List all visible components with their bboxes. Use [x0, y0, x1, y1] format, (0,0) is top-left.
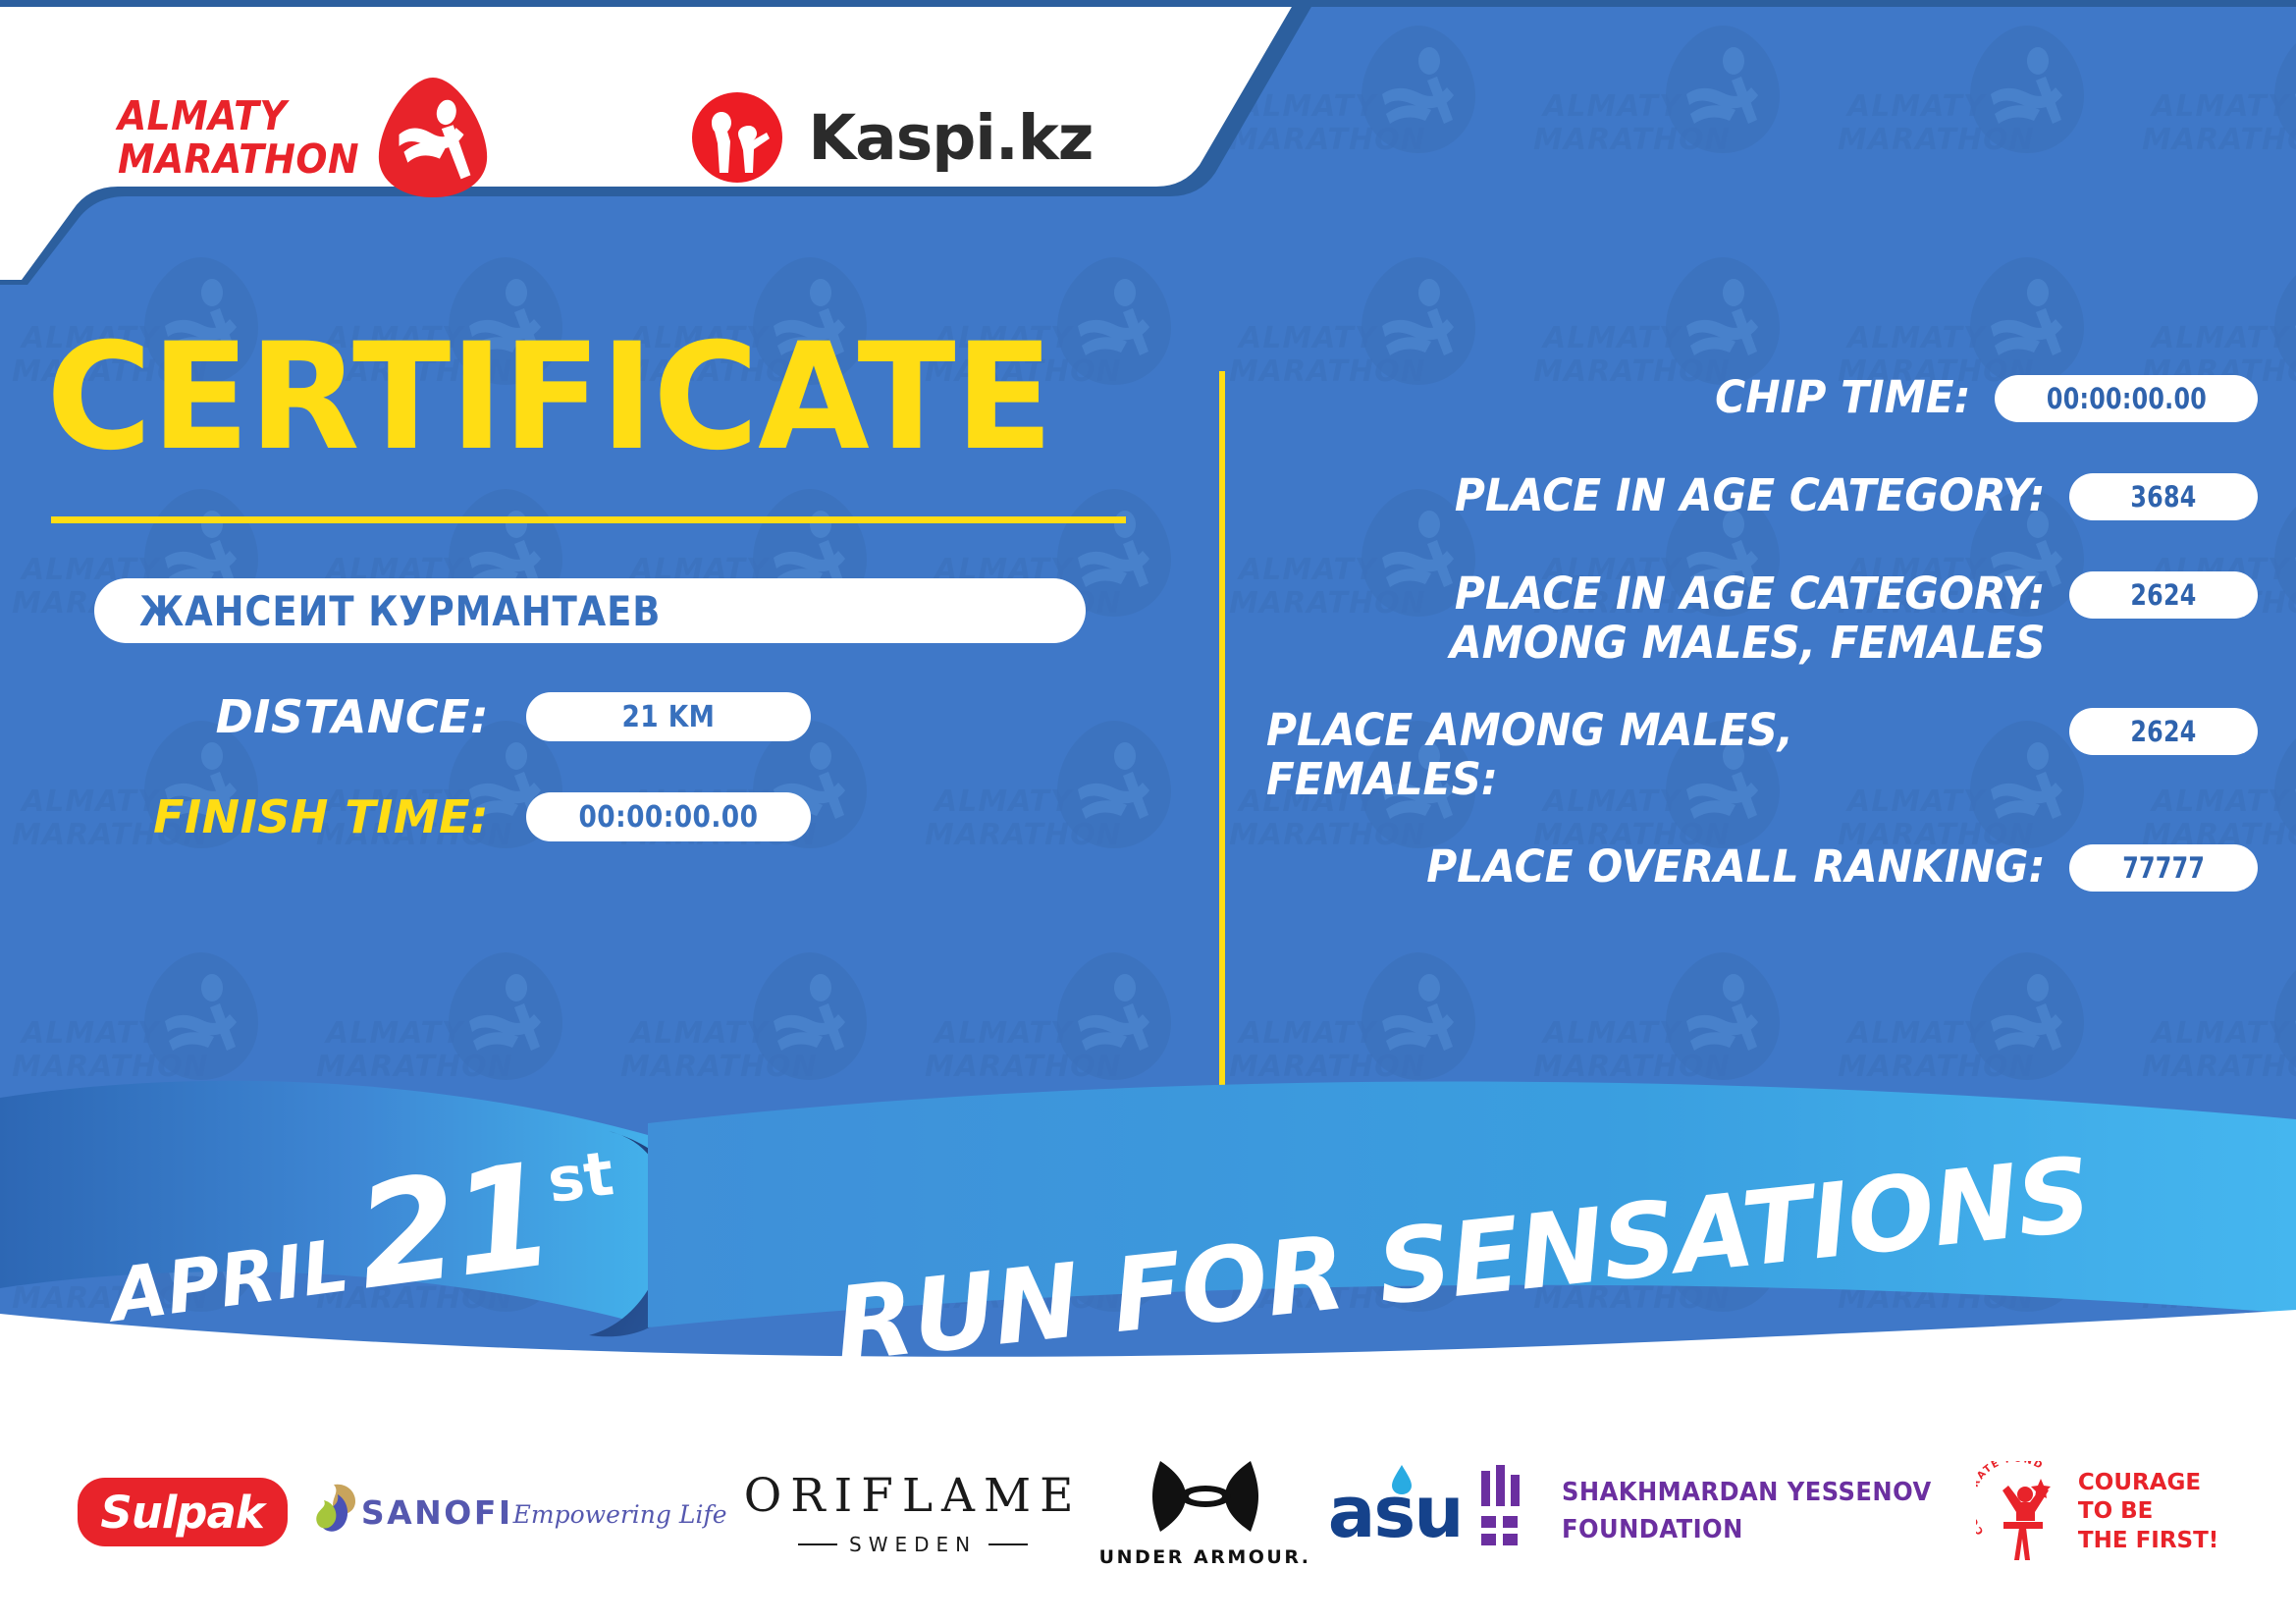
oriflame-tagline: SWEDEN	[849, 1533, 977, 1556]
kaspi-people-circle-icon	[688, 88, 786, 187]
place-age-gender-label: PLACE IN AGE CATEGORY:AMONG MALES, FEMAL…	[1314, 568, 2069, 669]
distance-value-pill: 21 KM	[526, 692, 811, 741]
column-divider	[1219, 371, 1225, 1098]
almaty-logo-line2: MARATHON	[118, 137, 359, 181]
kaspi-wordmark: Kaspi.kz	[808, 102, 1093, 174]
athlete-name-field: ЖАНСЕИТ КУРМАНТАЕВ	[94, 578, 1086, 643]
sponsor-bar: Sulpak SANOFI Empowering Life ORIFLAME S…	[0, 1400, 2296, 1624]
result-row-chip-time: CHIP TIME: 00:00:00.00	[1266, 371, 2258, 434]
sponsor-yessenov-foundation: SHAKHMARDAN YESSENOV FOUNDATION	[1479, 1465, 1959, 1559]
oriflame-rule-left	[798, 1543, 837, 1545]
finish-time-value-pill: 00:00:00.00	[526, 792, 811, 841]
place-age-gender-value-pill: 2624	[2069, 571, 2258, 619]
sulpak-wordmark: Sulpak	[100, 1487, 263, 1539]
distance-label: DISTANCE:	[94, 690, 526, 743]
courage-line1: COURAGE	[2078, 1469, 2218, 1497]
almaty-marathon-logo: ALMATY MARATHON	[118, 74, 492, 201]
result-row-place-age-gender: PLACE IN AGE CATEGORY:AMONG MALES, FEMAL…	[1266, 568, 2258, 669]
place-age-value: 3684	[2130, 480, 2196, 514]
overall-rank-value: 77777	[2122, 851, 2205, 885]
top-border-rule	[0, 0, 2296, 7]
courage-line3: THE FIRST!	[2078, 1527, 2218, 1555]
sponsor-asu: asu	[1328, 1471, 1463, 1553]
yessenov-mark-icon	[1479, 1465, 1540, 1559]
overall-rank-label: PLACE OVERALL RANKING:	[1314, 840, 2069, 892]
results-column: CHIP TIME: 00:00:00.00 PLACE IN AGE CATE…	[1266, 371, 2258, 939]
sanofi-tagline: Empowering Life	[513, 1500, 727, 1529]
distance-row: DISTANCE: 21 KM	[0, 690, 1158, 743]
finish-time-value: 00:00:00.00	[579, 800, 759, 835]
finish-time-label: FINISH TIME:	[94, 790, 526, 843]
place-age-value-pill: 3684	[2069, 473, 2258, 520]
event-day-ordinal: st	[544, 1137, 618, 1217]
almaty-logo-line1: ALMATY	[118, 94, 359, 137]
place-age-gender-value: 2624	[2130, 578, 2196, 612]
sponsor-oriflame: ORIFLAME SWEDEN	[744, 1469, 1083, 1556]
event-day: 21	[349, 1143, 559, 1310]
finish-time-row: FINISH TIME: 00:00:00.00	[0, 790, 1158, 843]
runner-drop-icon	[374, 74, 492, 201]
result-row-overall: PLACE OVERALL RANKING: 77777	[1266, 840, 2258, 903]
place-age-label: PLACE IN AGE CATEGORY:	[1314, 469, 2069, 520]
kaspi-logo: Kaspi.kz	[688, 88, 1093, 187]
certificate-canvas: ALMATY MARATHON ALMATY MARATHON	[0, 0, 2296, 1624]
chip-time-value: 00:00:00.00	[2046, 382, 2206, 415]
under-armour-wordmark: UNDER ARMOUR.	[1099, 1546, 1311, 1568]
sponsor-sulpak: Sulpak	[78, 1478, 288, 1546]
chip-time-label: CHIP TIME:	[1310, 371, 1995, 422]
sponsor-corporate-fund: CORPORATE FUND COURAGE TO BE THE FIRST!	[1976, 1461, 2218, 1563]
result-row-place-age: PLACE IN AGE CATEGORY: 3684	[1266, 469, 2258, 532]
courage-line2: TO BE	[2078, 1497, 2218, 1526]
courage-first-icon: CORPORATE FUND	[1976, 1461, 2066, 1563]
sponsor-sanofi: SANOFI Empowering Life	[304, 1483, 727, 1543]
place-gender-value: 2624	[2130, 715, 2196, 748]
sanofi-mark-icon	[304, 1483, 361, 1534]
yessenov-line2: FOUNDATION	[1562, 1512, 1932, 1549]
ribbon-banner: APRIL 21 st RUN FOR SENSATIONS	[0, 1080, 2296, 1404]
under-armour-icon	[1150, 1457, 1260, 1536]
overall-rank-value-pill: 77777	[2069, 844, 2258, 892]
oriflame-wordmark: ORIFLAME	[744, 1469, 1083, 1523]
title-underline	[51, 516, 1126, 523]
left-column: CERTIFICATE ЖАНСЕИТ КУРМАНТАЕВ DISTANCE:…	[0, 324, 1158, 843]
yessenov-line1: SHAKHMARDAN YESSENOV	[1562, 1475, 1932, 1512]
distance-value: 21 KM	[622, 700, 716, 734]
result-row-place-gender: PLACE AMONG MALES,FEMALES: 2624	[1266, 704, 2258, 805]
sanofi-wordmark: SANOFI	[361, 1493, 513, 1532]
place-gender-value-pill: 2624	[2069, 708, 2258, 755]
page-title: CERTIFICATE	[0, 324, 1135, 471]
athlete-name-value: ЖАНСЕИТ КУРМАНТАЕВ	[139, 587, 661, 635]
place-gender-label: PLACE AMONG MALES,FEMALES:	[1266, 704, 2021, 805]
asu-droplet-icon	[1391, 1465, 1413, 1494]
chip-time-value-pill: 00:00:00.00	[1995, 375, 2258, 422]
oriflame-rule-right	[988, 1543, 1028, 1545]
sponsor-under-armour: UNDER ARMOUR.	[1099, 1457, 1311, 1568]
